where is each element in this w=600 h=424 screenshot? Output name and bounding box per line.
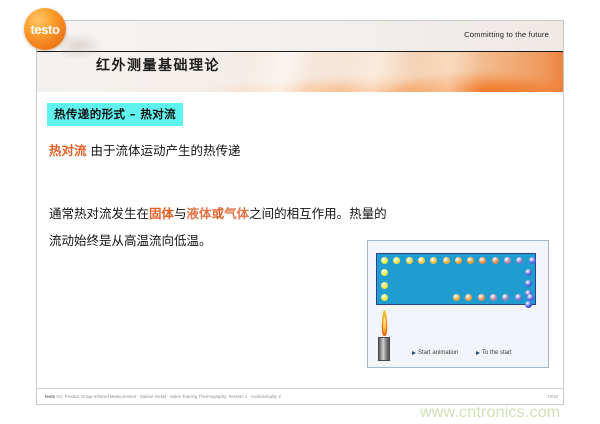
temperature-dot <box>525 301 532 308</box>
site-watermark: www.cntronics.com <box>420 404 560 422</box>
page-number: 10/23 <box>548 394 558 399</box>
play-icon <box>412 351 416 355</box>
definition-text: 由于流体运动产生的热传递 <box>91 143 241 158</box>
fluid-vessel <box>376 253 536 305</box>
page-title: 红外测量基础理论 <box>96 55 220 75</box>
temperature-dot <box>453 294 460 301</box>
temperature-dot <box>406 257 413 264</box>
temperature-dot <box>443 257 450 264</box>
logo-wordmark: testo <box>30 22 59 37</box>
temperature-dot <box>525 269 532 276</box>
footer-credits: testo AG, Product Group Infrared Measure… <box>45 394 281 399</box>
start-animation-button[interactable]: Start animation <box>412 350 458 356</box>
section-subtitle-highlight: 热传递的形式 – 热对流 <box>47 103 183 126</box>
temperature-dot <box>515 294 522 301</box>
temperature-dot <box>455 257 462 264</box>
temperature-dot <box>465 294 472 301</box>
temperature-dot <box>525 280 532 287</box>
temperature-dot <box>393 257 400 264</box>
temperature-dot <box>529 257 536 264</box>
explanation-seg-5: 或 <box>212 206 225 221</box>
term-liquid: 液体 <box>187 206 212 221</box>
temperature-dot <box>381 282 388 289</box>
explanation-seg-1: 通常热对流发生在 <box>49 206 149 221</box>
bunsen-burner-icon <box>378 337 390 361</box>
temperature-dot <box>381 257 388 264</box>
temperature-dot <box>430 257 437 264</box>
temperature-dot <box>418 257 425 264</box>
temperature-dot <box>504 257 511 264</box>
to-the-start-button[interactable]: To the start <box>476 350 512 356</box>
slide-body: 热传递的形式 – 热对流 热对流 由于流体运动产生的热传递 通常热对流发生在固体… <box>37 92 563 387</box>
testo-logo: testo <box>24 8 66 50</box>
temperature-dot <box>516 257 523 264</box>
paragraph-explanation: 通常热对流发生在固体与液体或气体之间的相互作用。热量的流动始终是从高温流向低温。 <box>49 200 394 254</box>
section-subtitle-text: 热传递的形式 – 热对流 <box>54 107 176 121</box>
term-convection: 热对流 <box>49 143 87 158</box>
footer-brand: testo <box>45 394 55 399</box>
temperature-dot <box>492 257 499 264</box>
temperature-dot <box>381 269 388 276</box>
brand-tagline: Committing to the future <box>464 30 549 39</box>
footer-divider <box>37 388 563 389</box>
paragraph-definition: 热对流 由于流体运动产生的热传递 <box>49 140 241 159</box>
temperature-dot <box>479 257 486 264</box>
temperature-dot <box>502 294 509 301</box>
start-animation-label: Start animation <box>418 350 458 356</box>
burner-flame-core-icon <box>383 317 386 333</box>
temperature-dot <box>478 294 485 301</box>
temperature-dot <box>381 294 388 301</box>
temperature-dot <box>467 257 474 264</box>
term-gas: 气体 <box>224 206 249 221</box>
explanation-seg-3: 与 <box>174 206 187 221</box>
convection-animation-panel[interactable]: Start animation To the start <box>367 240 549 368</box>
slide-canvas: Committing to the future testo 红外测量基础理论 … <box>0 0 600 424</box>
footer-credits-text: AG, Product Group Infrared Measurement ·… <box>56 394 281 399</box>
temperature-dot <box>527 294 534 301</box>
to-the-start-label: To the start <box>482 350 512 356</box>
rewind-icon <box>476 351 480 355</box>
term-solid: 固体 <box>149 206 174 221</box>
temperature-dot <box>490 294 497 301</box>
